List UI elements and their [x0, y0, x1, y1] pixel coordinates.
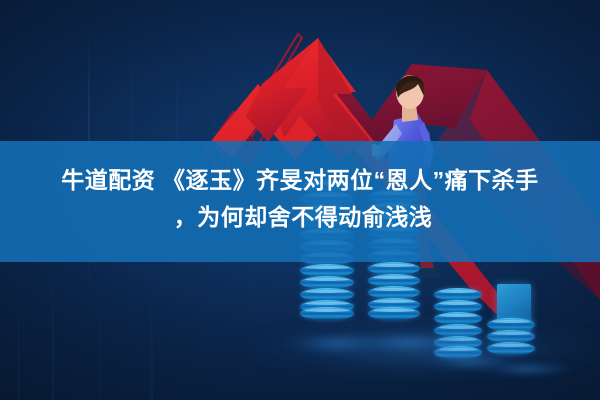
thumbnail-canvas: 牛道配资 《逐玉》齐旻对两位“恩人”痛下杀手 ，为何却舍不得动俞浅浅	[0, 0, 600, 400]
floor-glow	[250, 318, 600, 378]
title-line-2: ，为何却舍不得动俞浅浅	[168, 199, 433, 235]
title-banner: 牛道配资 《逐玉》齐旻对两位“恩人”痛下杀手 ，为何却舍不得动俞浅浅	[0, 141, 600, 262]
title-line-1: 牛道配资 《逐玉》齐旻对两位“恩人”痛下杀手	[61, 162, 538, 198]
